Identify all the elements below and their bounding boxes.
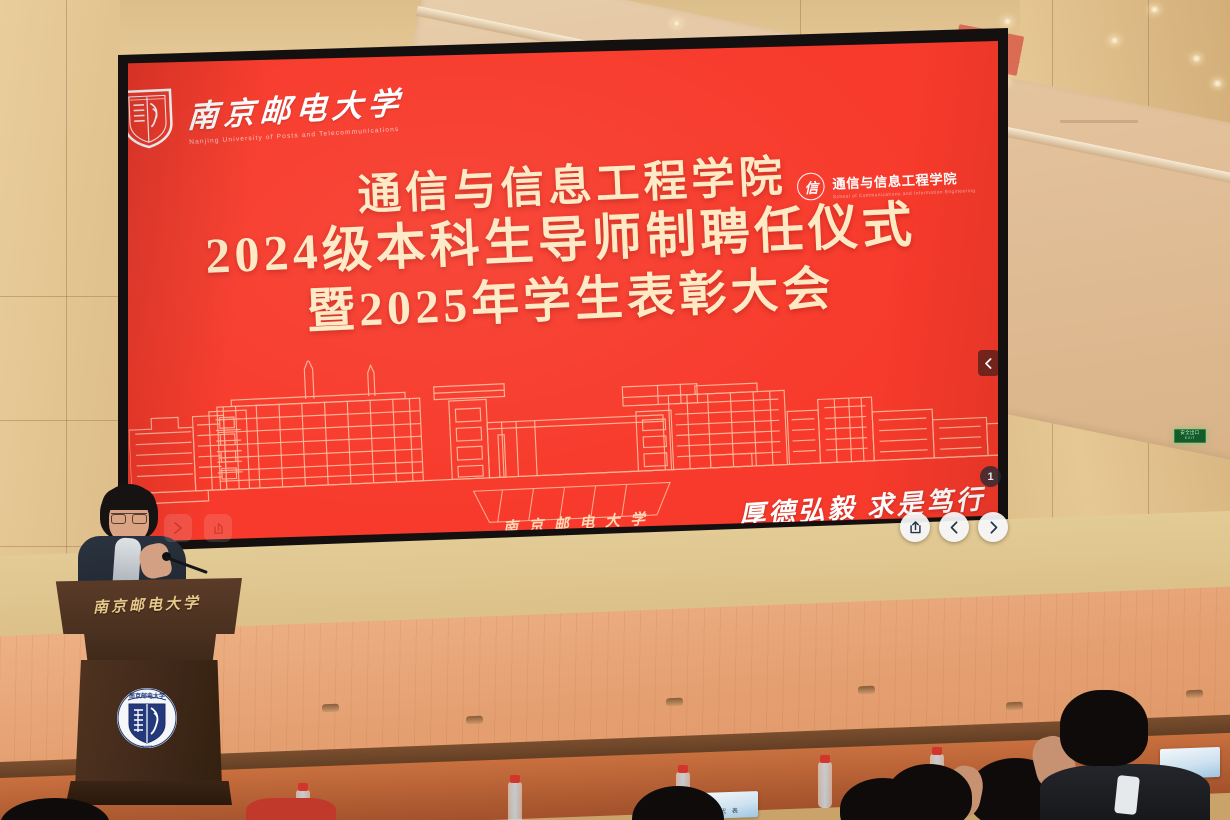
control-button-reflections — [164, 514, 232, 542]
next-button-reflection — [164, 514, 192, 542]
collapse-panel-tab[interactable] — [978, 350, 999, 376]
floor-socket — [858, 686, 875, 695]
audience-person-front — [0, 790, 130, 820]
audience-person-front — [1024, 690, 1230, 820]
university-crest-icon — [128, 87, 176, 151]
water-bottle — [508, 782, 522, 820]
emergency-exit-sign: 安全出口 EXIT — [1174, 429, 1206, 443]
speaker-fringe — [102, 488, 156, 510]
water-bottle — [818, 762, 832, 808]
photo-scene: 安全出口 EXIT — [0, 0, 1230, 820]
audience-head — [1060, 690, 1148, 766]
exit-sign-label-en: EXIT — [1185, 436, 1195, 441]
svg-text:南京邮电大学: 南京邮电大学 — [129, 692, 165, 700]
podium-neck — [78, 630, 218, 664]
share-button[interactable] — [900, 512, 930, 542]
university-emblem-icon: 南京邮电大学 NJUPT — [116, 684, 178, 752]
screen-surface: 南京邮电大学 Nanjing University of Posts and T… — [128, 38, 998, 546]
speaker-glasses — [111, 513, 147, 521]
ceiling-downlight — [1192, 55, 1201, 62]
floor-socket — [1006, 702, 1023, 711]
image-viewer-controls — [900, 512, 1008, 542]
lectern-podium: 南京邮电大学 南京邮电大学 NJUPT — [52, 578, 242, 820]
led-display-screen: 南京邮电大学 Nanjing University of Posts and T… — [118, 28, 1008, 558]
ceiling-downlight — [672, 20, 681, 27]
chevron-right-icon — [986, 520, 1001, 535]
floor-socket — [466, 716, 483, 725]
audience-shirt — [1114, 775, 1140, 815]
ceiling-downlight — [1213, 80, 1222, 87]
svg-text:NJUPT: NJUPT — [142, 745, 152, 749]
share-button-reflection — [204, 514, 232, 542]
chevron-right-icon — [172, 521, 184, 535]
ceiling-downlight — [1110, 37, 1119, 44]
audience-suit — [246, 798, 336, 820]
floor-socket — [666, 698, 683, 707]
university-lockup: 南京邮电大学 Nanjing University of Posts and T… — [128, 76, 405, 150]
floor-socket — [322, 704, 339, 713]
event-title-block: 通信与信息工程学院 2024级本科生导师制聘任仪式 暨2025年学生表彰大会 — [128, 142, 998, 347]
next-button[interactable] — [978, 512, 1008, 542]
wall-vent — [1060, 120, 1138, 123]
ceiling-downlight — [1150, 6, 1159, 13]
audience-head — [0, 798, 110, 820]
audience-person-front — [246, 794, 336, 820]
chevron-left-icon — [984, 358, 993, 369]
chevron-left-icon — [947, 520, 962, 535]
share-icon — [908, 520, 923, 535]
ceiling-downlight — [1003, 18, 1012, 25]
audience-person-front — [886, 736, 1046, 820]
page-indicator-badge[interactable]: 1 — [980, 466, 1001, 487]
share-icon — [212, 522, 225, 535]
previous-button[interactable] — [939, 512, 969, 542]
